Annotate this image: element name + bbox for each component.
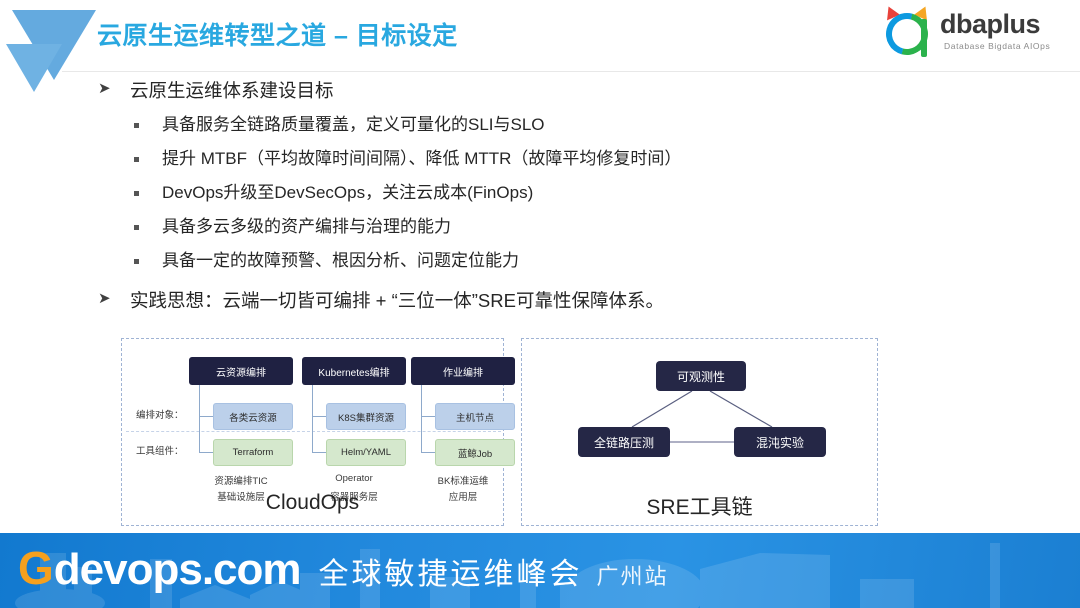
cloudops-column-1: 云资源编排 各类云资源 Terraform 资源编排TIC 基础设施层 <box>189 357 293 385</box>
connector-vertical <box>421 385 422 453</box>
column-title-box: Kubernetes编排 <box>302 357 406 385</box>
cloudops-caption: CloudOps <box>122 491 503 515</box>
list-item: DevOps升级至DevSecOps，关注云成本(FinOps) <box>0 178 1080 212</box>
square-bullet-icon <box>134 157 139 162</box>
column-title-box: 作业编排 <box>411 357 515 385</box>
arrow-bullet-icon: ➤ <box>98 81 111 96</box>
list-item: 具备一定的故障预警、根因分析、问题定位能力 <box>0 246 1080 280</box>
footer-summit-name: 全球敏捷运维峰会 <box>319 549 583 593</box>
square-bullet-icon <box>134 225 139 230</box>
dbaplus-logo: dbaplus Database Bigdata AIOps <box>878 5 1068 61</box>
page-title: 云原生运维转型之道 – 目标设定 <box>97 16 458 52</box>
section-2: ➤ 实践思想：云端一切皆可编排 + “三位一体”SRE可靠性保障体系。 <box>0 288 1080 314</box>
bullet-text: 具备多云多级的资产编排与治理的能力 <box>162 214 451 240</box>
sre-diagram: 可观测性 全链路压测 混沌实验 SRE工具链 <box>521 338 878 526</box>
slide-header: 云原生运维转型之道 – 目标设定 dbaplus Database Bigdat… <box>0 0 1080 72</box>
bullet-text: 具备服务全链路质量覆盖，定义可量化的SLI与SLO <box>162 112 545 138</box>
sre-caption: SRE工具链 <box>522 491 877 521</box>
row-label-objects: 编排对象： <box>136 407 184 421</box>
square-bullet-icon <box>134 123 139 128</box>
section-1: ➤ 云原生运维体系建设目标 <box>0 78 1080 104</box>
dbaplus-wordmark: dbaplus <box>940 9 1040 40</box>
list-item: 提升 MTBF（平均故障时间间隔）、降低 MTTR（故障平均修复时间） <box>0 144 1080 178</box>
dbaplus-tagline: Database Bigdata AIOps <box>944 41 1050 51</box>
cloudops-column-2: Kubernetes编排 K8S集群资源 Helm/YAML Operator … <box>302 357 406 385</box>
list-item: 具备服务全链路质量覆盖，定义可量化的SLI与SLO <box>0 110 1080 144</box>
arrow-bullet-icon: ➤ <box>98 291 111 306</box>
column-title-box: 云资源编排 <box>189 357 293 385</box>
logo-stem-icon <box>921 19 927 57</box>
section-1-heading: 云原生运维体系建设目标 <box>96 78 1080 104</box>
connector-vertical <box>312 385 313 453</box>
square-bullet-icon <box>134 259 139 264</box>
connector-horizontal <box>421 416 436 417</box>
cloudops-column-3: 作业编排 主机节点 蓝鲸Job BK标准运维 应用层 <box>411 357 515 385</box>
section-1-bullets: 具备服务全链路质量覆盖，定义可量化的SLI与SLO 提升 MTBF（平均故障时间… <box>0 110 1080 280</box>
bullet-text: 提升 MTBF（平均故障时间间隔）、降低 MTTR（故障平均修复时间） <box>162 146 681 172</box>
column-caption-primary: 资源编排TIC <box>189 473 293 487</box>
connector-horizontal <box>421 452 436 453</box>
sre-node-observability: 可观测性 <box>656 361 746 391</box>
connector-horizontal <box>199 416 214 417</box>
footer-brand: G devops.com 全球敏捷运维峰会 广州站 <box>18 545 669 593</box>
gdevops-g-letter: G <box>18 545 54 591</box>
cloudops-row-divider <box>126 431 501 432</box>
slide-footer: G devops.com 全球敏捷运维峰会 广州站 <box>0 533 1080 608</box>
gdevops-wordmark: devops.com <box>54 548 301 592</box>
cloudops-diagram: 编排对象： 工具组件： 云资源编排 各类云资源 Terraform 资源编排TI… <box>121 338 504 526</box>
tool-box: 蓝鲸Job <box>435 439 515 466</box>
section-2-heading: 实践思想：云端一切皆可编排 + “三位一体”SRE可靠性保障体系。 <box>96 288 1080 314</box>
bullet-text: DevOps升级至DevSecOps，关注云成本(FinOps) <box>162 180 533 206</box>
object-box: 各类云资源 <box>213 403 293 430</box>
diagram-area: 编排对象： 工具组件： 云资源编排 各类云资源 Terraform 资源编排TI… <box>0 338 1080 530</box>
column-caption-primary: BK标准运维 <box>411 473 515 487</box>
header-divider <box>62 71 1080 72</box>
tool-box: Helm/YAML <box>326 439 406 466</box>
connector-horizontal <box>312 452 327 453</box>
tool-box: Terraform <box>213 439 293 466</box>
object-box: 主机节点 <box>435 403 515 430</box>
object-box: K8S集群资源 <box>326 403 406 430</box>
connector-horizontal <box>199 452 214 453</box>
list-item: 具备多云多级的资产编排与治理的能力 <box>0 212 1080 246</box>
sre-node-full-link-stress-test: 全链路压测 <box>578 427 670 457</box>
sre-node-chaos-experiment: 混沌实验 <box>734 427 826 457</box>
connector-horizontal <box>312 416 327 417</box>
bullet-text: 具备一定的故障预警、根因分析、问题定位能力 <box>162 248 519 274</box>
footer-city: 广州站 <box>597 559 669 591</box>
slide-body: ➤ 云原生运维体系建设目标 具备服务全链路质量覆盖，定义可量化的SLI与SLO … <box>0 78 1080 320</box>
connector-vertical <box>199 385 200 453</box>
square-bullet-icon <box>134 191 139 196</box>
row-label-tools: 工具组件： <box>136 443 184 457</box>
column-caption-primary: Operator <box>302 473 406 484</box>
